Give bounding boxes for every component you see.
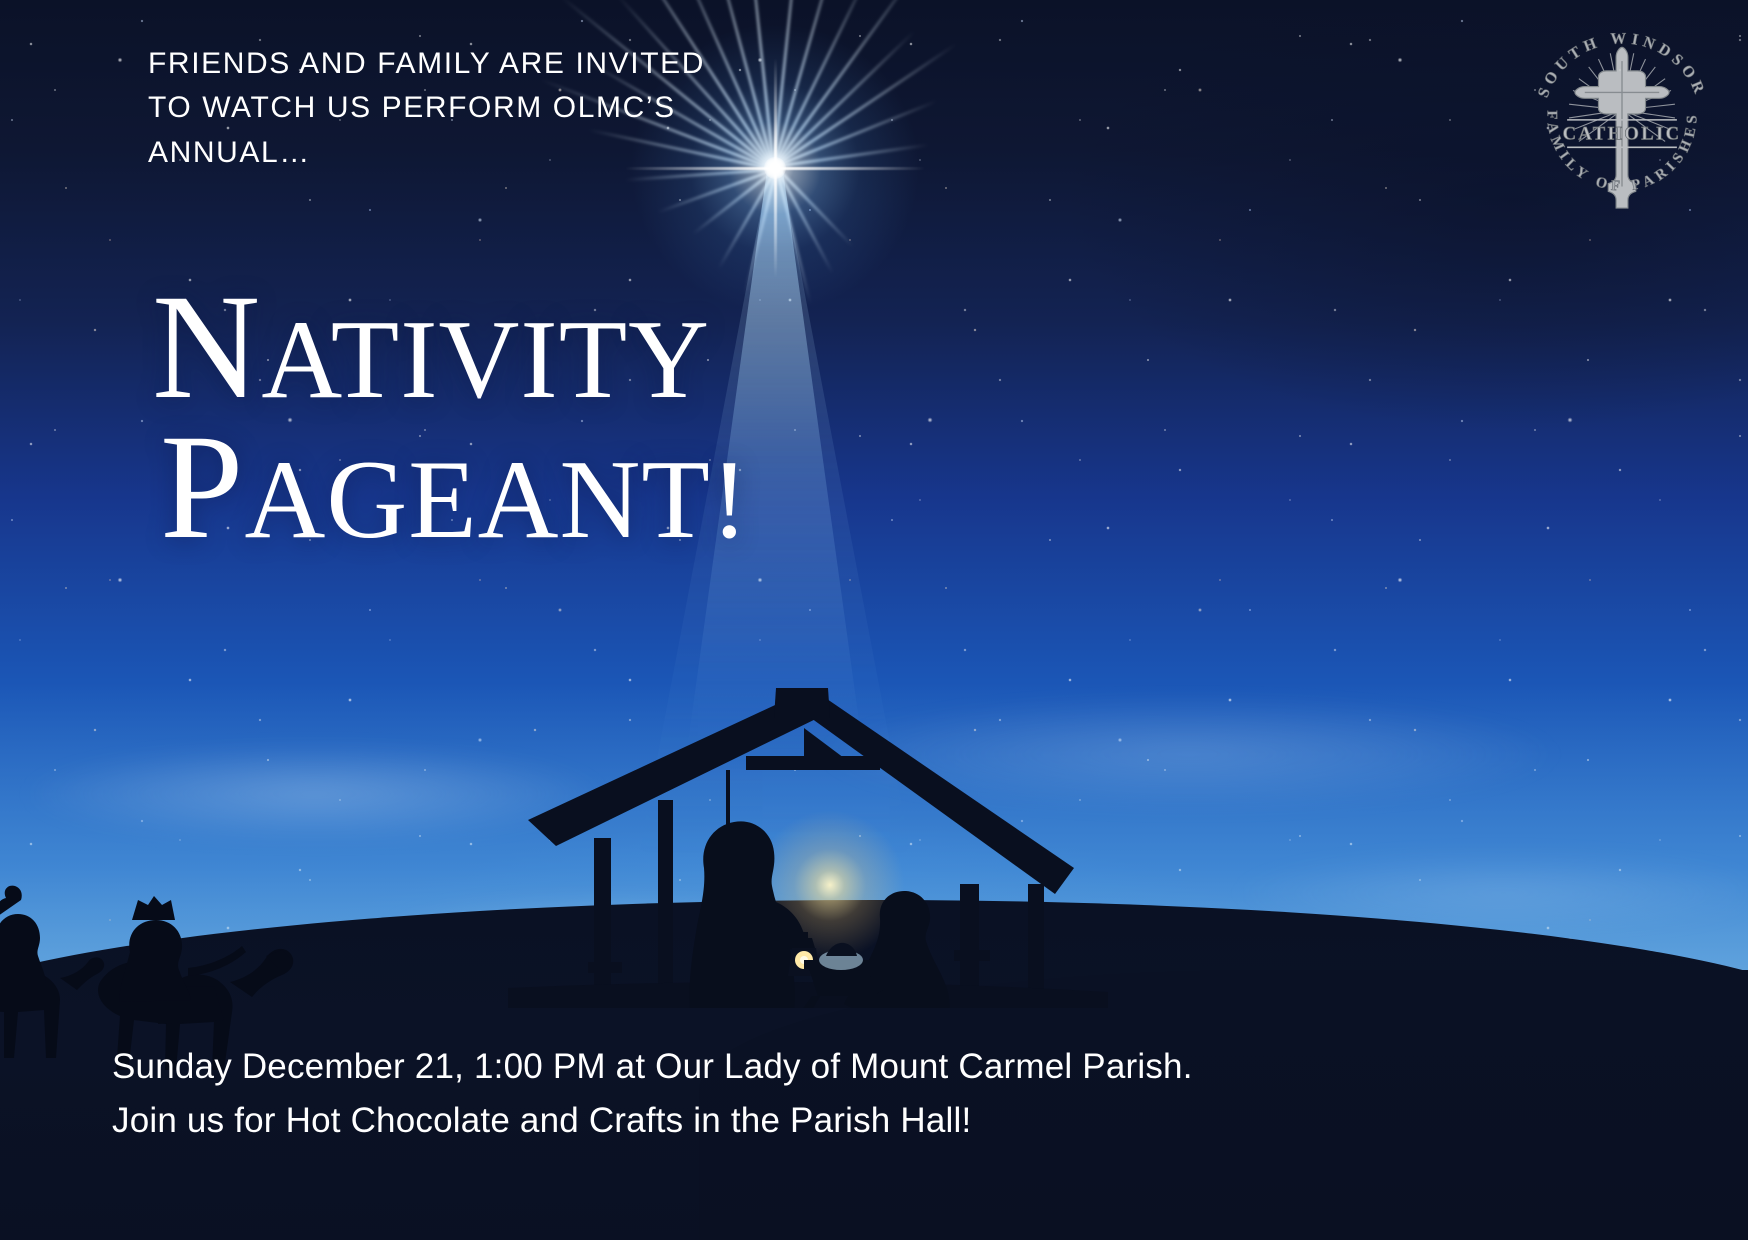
three-wise-men-on-camels-silhouette xyxy=(0,850,310,1070)
event-details: Sunday December 21, 1:00 PM at Our Lady … xyxy=(112,1040,1412,1149)
title-line-1: NATIVITY xyxy=(152,278,1052,418)
page-title: NATIVITY PAGEANT! xyxy=(152,278,1052,557)
intro-line-1: FRIENDS AND FAMILY ARE INVITED xyxy=(148,42,828,86)
intro-text: FRIENDS AND FAMILY ARE INVITED TO WATCH … xyxy=(148,42,828,175)
event-details-line-1: Sunday December 21, 1:00 PM at Our Lady … xyxy=(112,1040,1412,1094)
south-windsor-catholic-logo: CATHOLIC SOUTH WINDSOR FAMILY OF PARISHE… xyxy=(1524,14,1720,214)
title-line-2-rest: AGEANT! xyxy=(244,438,749,562)
joseph-figure xyxy=(689,821,820,1008)
nativity-stable-silhouette xyxy=(508,688,1108,1008)
nativity-pageant-poster: FRIENDS AND FAMILY ARE INVITED TO WATCH … xyxy=(0,0,1748,1240)
logo-center-band: CATHOLIC xyxy=(1563,123,1682,144)
title-line-2: PAGEANT! xyxy=(152,418,1052,558)
title-line-1-rest: ATIVITY xyxy=(261,298,710,422)
intro-line-3: ANNUAL… xyxy=(148,131,828,175)
event-details-line-2: Join us for Hot Chocolate and Crafts in … xyxy=(112,1094,1412,1148)
title-line-2-initial: P xyxy=(160,404,244,570)
intro-line-2: TO WATCH US PERFORM OLMC’S xyxy=(148,86,828,130)
